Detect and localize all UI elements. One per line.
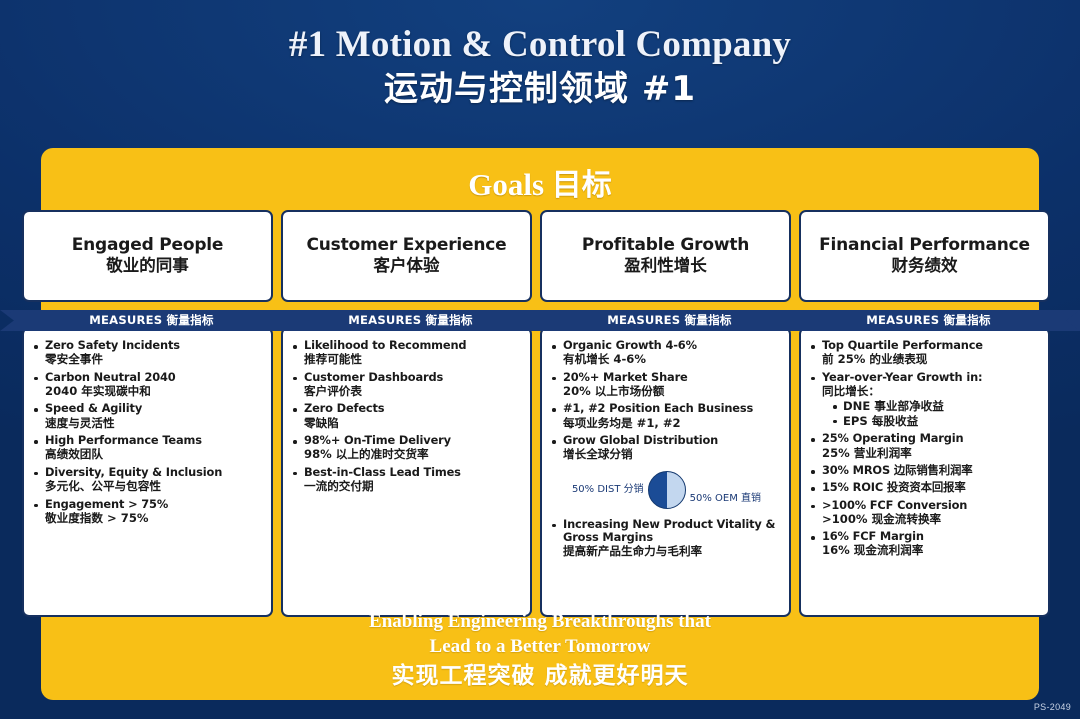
measure-en: Carbon Neutral 2040: [45, 371, 265, 384]
measure-zh: 多元化、公平与包容性: [45, 479, 265, 493]
measure-en: Increasing New Product Vitality & Gross …: [563, 518, 783, 544]
column-header-card: Customer Experience 客户体验: [281, 210, 532, 302]
measure-en: 98%+ On-Time Delivery: [304, 434, 524, 447]
goal-column-profitable-growth[interactable]: Profitable Growth 盈利性增长 Organic Growth 4…: [540, 210, 791, 617]
measures-list: Organic Growth 4-6% 有机增长 4-6% 20%+ Marke…: [550, 339, 783, 462]
distribution-pie-chart: 50% DIST 分销 50% OEM 直销: [550, 471, 783, 509]
measures-label-4: MEASURES 衡量指标: [799, 310, 1058, 331]
title-english: #1 Motion & Control Company: [0, 24, 1080, 65]
measure-zh: 同比增长：: [822, 384, 1042, 398]
measure-zh: 一流的交付期: [304, 479, 524, 493]
measures-label-2: MEASURES 衡量指标: [281, 310, 540, 331]
list-item: Customer Dashboards 客户评价表: [291, 371, 524, 399]
column-title-zh: 客户体验: [374, 256, 440, 276]
measure-zh: 提高新产品生命力与毛利率: [563, 544, 783, 558]
goal-column-financial-performance[interactable]: Financial Performance 财务绩效 Top Quartile …: [799, 210, 1050, 617]
list-item: Top Quartile Performance 前 25% 的业绩表现: [809, 339, 1042, 367]
measure-en: Likelihood to Recommend: [304, 339, 524, 352]
measure-zh: 客户评价表: [304, 384, 524, 398]
measures-list: Zero Safety Incidents 零安全事件 Carbon Neutr…: [32, 339, 265, 525]
column-title-en: Profitable Growth: [582, 236, 749, 255]
column-body-card: Organic Growth 4-6% 有机增长 4-6% 20%+ Marke…: [540, 327, 791, 617]
measure-en: #1, #2 Position Each Business: [563, 402, 783, 415]
slide-title-block: #1 Motion & Control Company 运动与控制领域 #1: [0, 24, 1080, 111]
measure-en: Speed & Agility: [45, 402, 265, 415]
list-item: >100% FCF Conversion >100% 现金流转换率: [809, 499, 1042, 527]
measure-zh: 增长全球分销: [563, 447, 783, 461]
goal-column-engaged-people[interactable]: Engaged People 敬业的同事 Zero Safety Inciden…: [22, 210, 273, 617]
measure-zh: 98% 以上的准时交货率: [304, 447, 524, 461]
list-item: Best-in-Class Lead Times 一流的交付期: [291, 466, 524, 494]
list-item: 15% ROIC 投资资本回报率: [809, 481, 1042, 494]
measure-zh: 零安全事件: [45, 352, 265, 366]
measure-en: >100% FCF Conversion: [822, 499, 1042, 512]
column-body-card: Likelihood to Recommend 推荐可能性 Customer D…: [281, 327, 532, 617]
list-item: EPS 每股收益: [832, 414, 1042, 428]
measure-en: Best-in-Class Lead Times: [304, 466, 524, 479]
measures-sublist: DNE 事业部净收益 EPS 每股收益: [832, 399, 1042, 428]
measures-list: Top Quartile Performance 前 25% 的业绩表现 Yea…: [809, 339, 1042, 558]
goal-column-customer-experience[interactable]: Customer Experience 客户体验 Likelihood to R…: [281, 210, 532, 617]
list-item: Zero Defects 零缺陷: [291, 402, 524, 430]
list-item: 30% MROS 边际销售利润率: [809, 464, 1042, 477]
list-item: 16% FCF Margin 16% 现金流利润率: [809, 530, 1042, 558]
measure-en: Diversity, Equity & Inclusion: [45, 466, 265, 479]
measure-zh: 有机增长 4-6%: [563, 352, 783, 366]
goal-columns: Engaged People 敬业的同事 Zero Safety Inciden…: [22, 210, 1058, 617]
measure-en: 30% MROS 边际销售利润率: [822, 464, 1042, 477]
list-item: Carbon Neutral 2040 2040 年实现碳中和: [32, 371, 265, 399]
column-title-en: Customer Experience: [307, 236, 507, 255]
list-item: Organic Growth 4-6% 有机增长 4-6%: [550, 339, 783, 367]
measure-zh: 每项业务均是 #1, #2: [563, 416, 783, 430]
list-item: High Performance Teams 高绩效团队: [32, 434, 265, 462]
list-item: 25% Operating Margin 25% 营业利润率: [809, 432, 1042, 460]
measure-zh: 速度与灵活性: [45, 416, 265, 430]
measure-en: Grow Global Distribution: [563, 434, 783, 447]
measure-zh: 20% 以上市场份额: [563, 384, 783, 398]
measure-zh: 25% 营业利润率: [822, 446, 1042, 460]
list-item: Speed & Agility 速度与灵活性: [32, 402, 265, 430]
column-title-zh: 敬业的同事: [106, 256, 189, 276]
tagline-en-line2: Lead to a Better Tomorrow: [41, 635, 1039, 660]
column-body-card: Zero Safety Incidents 零安全事件 Carbon Neutr…: [22, 327, 273, 617]
tagline-block: Enabling Engineering Breakthroughs that …: [41, 610, 1039, 692]
title-chinese: 运动与控制领域 #1: [0, 68, 1080, 111]
list-item: Grow Global Distribution 增长全球分销: [550, 434, 783, 462]
measure-en: Organic Growth 4-6%: [563, 339, 783, 352]
slide-code: PS-2049: [1034, 702, 1071, 712]
slide-root: #1 Motion & Control Company 运动与控制领域 #1 G…: [0, 0, 1080, 719]
pie-label-dist: 50% DIST 分销: [572, 480, 644, 495]
column-title-en: Engaged People: [72, 236, 224, 255]
pie-label-oem: 50% OEM 直销: [690, 489, 761, 504]
goals-heading: Goals 目标: [41, 160, 1039, 204]
measure-en: Year-over-Year Growth in:: [822, 371, 1042, 384]
measure-zh: 高绩效团队: [45, 447, 265, 461]
measures-label-3: MEASURES 衡量指标: [540, 310, 799, 331]
goals-heading-en: Goals: [468, 167, 544, 202]
list-item: 98%+ On-Time Delivery 98% 以上的准时交货率: [291, 434, 524, 462]
list-item: Likelihood to Recommend 推荐可能性: [291, 339, 524, 367]
measure-zh: 零缺陷: [304, 416, 524, 430]
pie-icon: [648, 471, 686, 509]
measure-en: Customer Dashboards: [304, 371, 524, 384]
measures-ribbon-labels: MEASURES 衡量指标 MEASURES 衡量指标 MEASURES 衡量指…: [0, 310, 1080, 331]
measure-en: 15% ROIC 投资资本回报率: [822, 481, 1042, 494]
list-item: Zero Safety Incidents 零安全事件: [32, 339, 265, 367]
tagline-en-line1: Enabling Engineering Breakthroughs that: [41, 610, 1039, 635]
measure-zh: 16% 现金流利润率: [822, 543, 1042, 557]
measure-en: Engagement > 75%: [45, 498, 265, 511]
goals-heading-zh: 目标: [552, 168, 612, 203]
measure-en: Zero Safety Incidents: [45, 339, 265, 352]
measure-en: High Performance Teams: [45, 434, 265, 447]
list-item: 20%+ Market Share 20% 以上市场份额: [550, 371, 783, 399]
column-title-en: Financial Performance: [819, 236, 1030, 255]
column-title-zh: 财务绩效: [892, 256, 958, 276]
measure-en: 25% Operating Margin: [822, 432, 1042, 445]
submeasure: EPS 每股收益: [843, 414, 1042, 428]
measure-zh: 推荐可能性: [304, 352, 524, 366]
list-item: Engagement > 75% 敬业度指数 > 75%: [32, 498, 265, 526]
column-header-card: Engaged People 敬业的同事: [22, 210, 273, 302]
column-title-zh: 盈利性增长: [624, 256, 707, 276]
submeasure: DNE 事业部净收益: [843, 399, 1042, 413]
goals-panel: Goals 目标 Engaged People 敬业的同事 Zero Safet…: [41, 148, 1039, 700]
measure-en: 20%+ Market Share: [563, 371, 783, 384]
measure-en: Top Quartile Performance: [822, 339, 1042, 352]
measures-list-secondary: Increasing New Product Vitality & Gross …: [550, 518, 783, 559]
tagline-zh: 实现工程突破 成就更好明天: [41, 660, 1039, 692]
measure-en: Zero Defects: [304, 402, 524, 415]
column-header-card: Profitable Growth 盈利性增长: [540, 210, 791, 302]
list-item: Diversity, Equity & Inclusion 多元化、公平与包容性: [32, 466, 265, 494]
measure-zh: 前 25% 的业绩表现: [822, 352, 1042, 366]
column-body-card: Top Quartile Performance 前 25% 的业绩表现 Yea…: [799, 327, 1050, 617]
list-item: Increasing New Product Vitality & Gross …: [550, 518, 783, 559]
measure-en: 16% FCF Margin: [822, 530, 1042, 543]
list-item: DNE 事业部净收益: [832, 399, 1042, 413]
measure-zh: 2040 年实现碳中和: [45, 384, 265, 398]
list-item: #1, #2 Position Each Business 每项业务均是 #1,…: [550, 402, 783, 430]
list-item: Year-over-Year Growth in: 同比增长： DNE 事业部净…: [809, 371, 1042, 429]
measures-list: Likelihood to Recommend 推荐可能性 Customer D…: [291, 339, 524, 494]
measures-label-1: MEASURES 衡量指标: [22, 310, 281, 331]
measure-zh: >100% 现金流转换率: [822, 512, 1042, 526]
measure-zh: 敬业度指数 > 75%: [45, 511, 265, 525]
column-header-card: Financial Performance 财务绩效: [799, 210, 1050, 302]
